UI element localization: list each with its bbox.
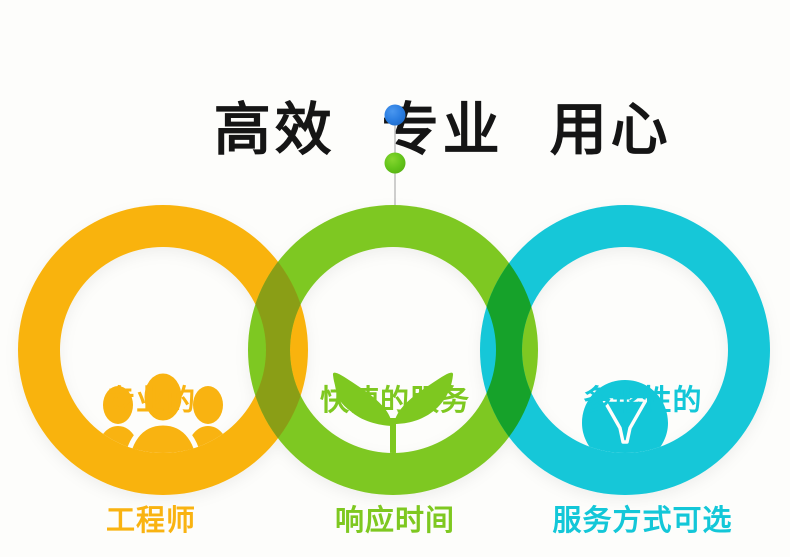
circle-label-middle-line1: 快速的服务 xyxy=(285,380,505,420)
circle-label-right-line1: 多形性的 xyxy=(520,380,765,420)
circle-label-left: 专业的 工程师 xyxy=(56,300,246,557)
circle-label-left-line1: 专业的 xyxy=(56,380,246,420)
circle-label-left-line2: 工程师 xyxy=(56,500,246,540)
circle-label-middle: 快速的服务 响应时间 xyxy=(285,300,505,557)
circle-label-right-line2: 服务方式可选 xyxy=(520,500,765,540)
circle-label-middle-line2: 响应时间 xyxy=(285,500,505,540)
infographic-canvas: 高效专业用心 xyxy=(0,0,790,557)
circle-label-right: 多形性的 服务方式可选 xyxy=(520,300,765,557)
